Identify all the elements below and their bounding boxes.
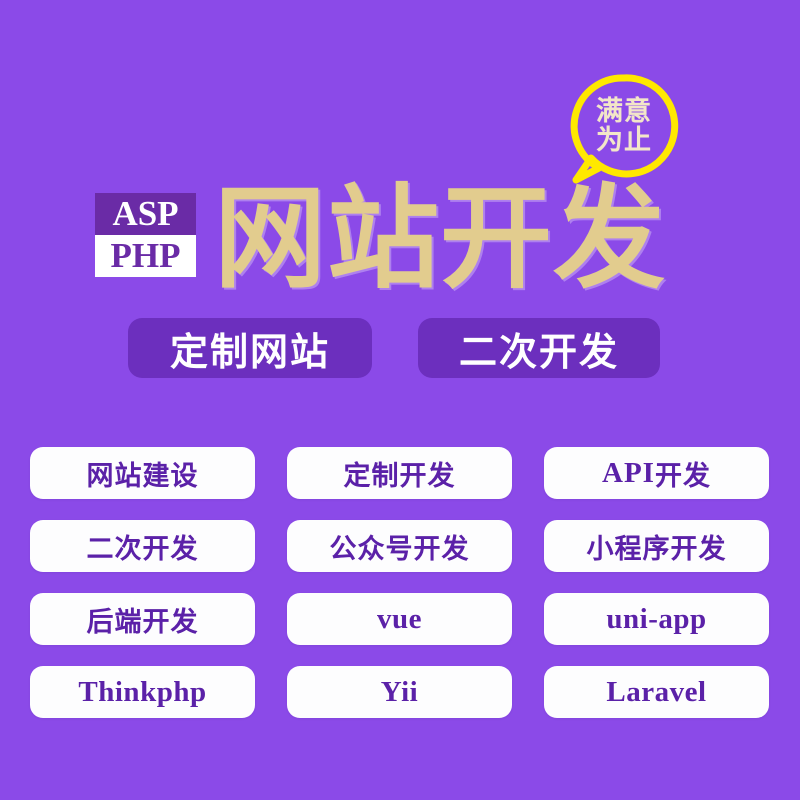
tag-label: 定制开发 xyxy=(344,454,456,493)
sub-pill-row: 定制网站 二次开发 xyxy=(128,318,660,378)
tag-label-cjk: 开发 xyxy=(655,454,711,493)
service-tag-grid: 网站建设 定制开发 API开发 二次开发 公众号开发 小程序开发 后端开发 vu… xyxy=(30,447,770,718)
tag-vue[interactable]: vue xyxy=(287,593,512,645)
asp-label: ASP xyxy=(95,193,196,235)
sub-pill-custom-website[interactable]: 定制网站 xyxy=(128,318,372,378)
php-label: PHP xyxy=(95,235,196,277)
tag-yii[interactable]: Yii xyxy=(287,666,512,718)
sub-pill-label: 二次开发 xyxy=(459,321,619,376)
sub-pill-label: 定制网站 xyxy=(170,321,330,376)
poster-canvas: 满意 为止 ASP PHP 网站开发 定制网站 二次开发 网站建设 定制开发 A… xyxy=(0,0,800,800)
tag-custom-development[interactable]: 定制开发 xyxy=(287,447,512,499)
sub-pill-secondary-development[interactable]: 二次开发 xyxy=(418,318,660,378)
tag-backend-development[interactable]: 后端开发 xyxy=(30,593,255,645)
tag-secondary-development[interactable]: 二次开发 xyxy=(30,520,255,572)
tech-stack-badge: ASP PHP xyxy=(95,193,196,277)
tag-label-latin: API xyxy=(602,457,655,490)
tag-laravel[interactable]: Laravel xyxy=(544,666,769,718)
bubble-line-2: 为止 xyxy=(596,127,652,155)
tag-label: 二次开发 xyxy=(87,527,199,566)
tag-website-construction[interactable]: 网站建设 xyxy=(30,447,255,499)
tag-official-account-development[interactable]: 公众号开发 xyxy=(287,520,512,572)
tag-thinkphp[interactable]: Thinkphp xyxy=(30,666,255,718)
tag-label: 小程序开发 xyxy=(587,527,727,566)
bubble-text-block: 满意 为止 xyxy=(568,70,680,182)
tag-label: 公众号开发 xyxy=(330,527,470,566)
tag-label: uni-app xyxy=(606,603,706,636)
tag-label: 网站建设 xyxy=(87,454,199,493)
tag-label: Thinkphp xyxy=(78,676,206,709)
page-title: 网站开发 xyxy=(214,178,666,300)
tag-label: Yii xyxy=(381,676,418,709)
tag-api-development[interactable]: API开发 xyxy=(544,447,769,499)
satisfaction-speech-bubble: 满意 为止 xyxy=(568,70,698,188)
tag-uni-app[interactable]: uni-app xyxy=(544,593,769,645)
tag-label: Laravel xyxy=(606,676,706,709)
tag-mini-program-development[interactable]: 小程序开发 xyxy=(544,520,769,572)
tag-label: vue xyxy=(377,603,422,636)
bubble-line-1: 满意 xyxy=(596,98,652,126)
tag-label: 后端开发 xyxy=(87,600,199,639)
